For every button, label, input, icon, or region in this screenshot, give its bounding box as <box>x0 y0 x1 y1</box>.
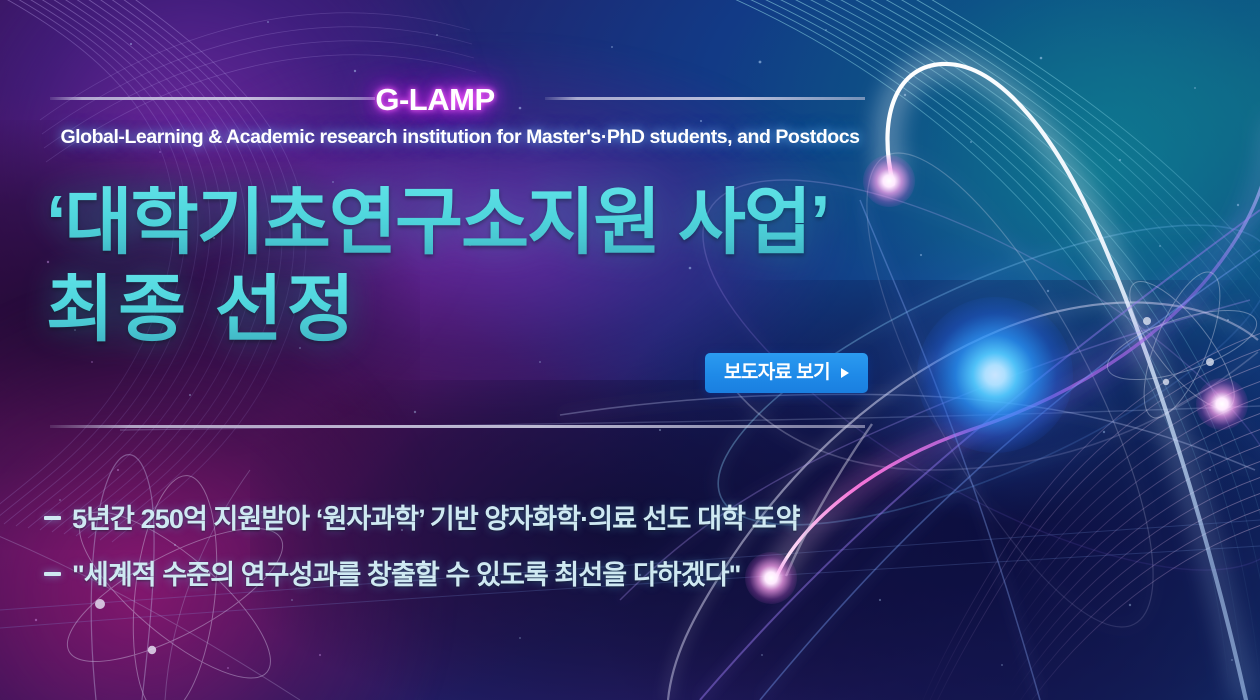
highlight-list: 5년간 250억 지원받아 ‘원자과학’ 기반 양자화학·의료 선도 대학 도약… <box>44 497 800 592</box>
list-item: "세계적 수준의 연구성과를 창출할 수 있도록 최선을 다하겠다" <box>44 553 800 592</box>
page-title: ‘대학기초연구소지원 사업’ 최종 선정 <box>46 186 829 345</box>
dash-icon <box>44 516 61 520</box>
headline-line-1: ‘대학기초연구소지원 사업’ <box>46 186 829 259</box>
banner-content: G-LAMP Global-Learning & Academic resear… <box>0 0 1260 700</box>
brand-wrapper: G-LAMP <box>0 82 1260 118</box>
list-item-text: 5년간 250억 지원받아 ‘원자과학’ 기반 양자화학·의료 선도 대학 도약 <box>72 497 800 536</box>
glamp-promo-banner: G-LAMP Global-Learning & Academic resear… <box>0 0 1260 700</box>
brand-name: G-LAMP <box>375 82 494 118</box>
brand-subtitle: Global-Learning & Academic research inst… <box>52 126 868 149</box>
dash-icon <box>44 572 61 576</box>
divider-bottom <box>50 425 865 428</box>
arrow-right-icon <box>841 368 849 378</box>
press-release-button[interactable]: 보도자료 보기 <box>705 353 868 393</box>
list-item: 5년간 250억 지원받아 ‘원자과학’ 기반 양자화학·의료 선도 대학 도약 <box>44 497 800 536</box>
press-release-button-label: 보도자료 보기 <box>724 363 830 382</box>
list-item-text: "세계적 수준의 연구성과를 창출할 수 있도록 최선을 다하겠다" <box>72 553 741 592</box>
headline-line-2: 최종 선정 <box>46 273 829 346</box>
